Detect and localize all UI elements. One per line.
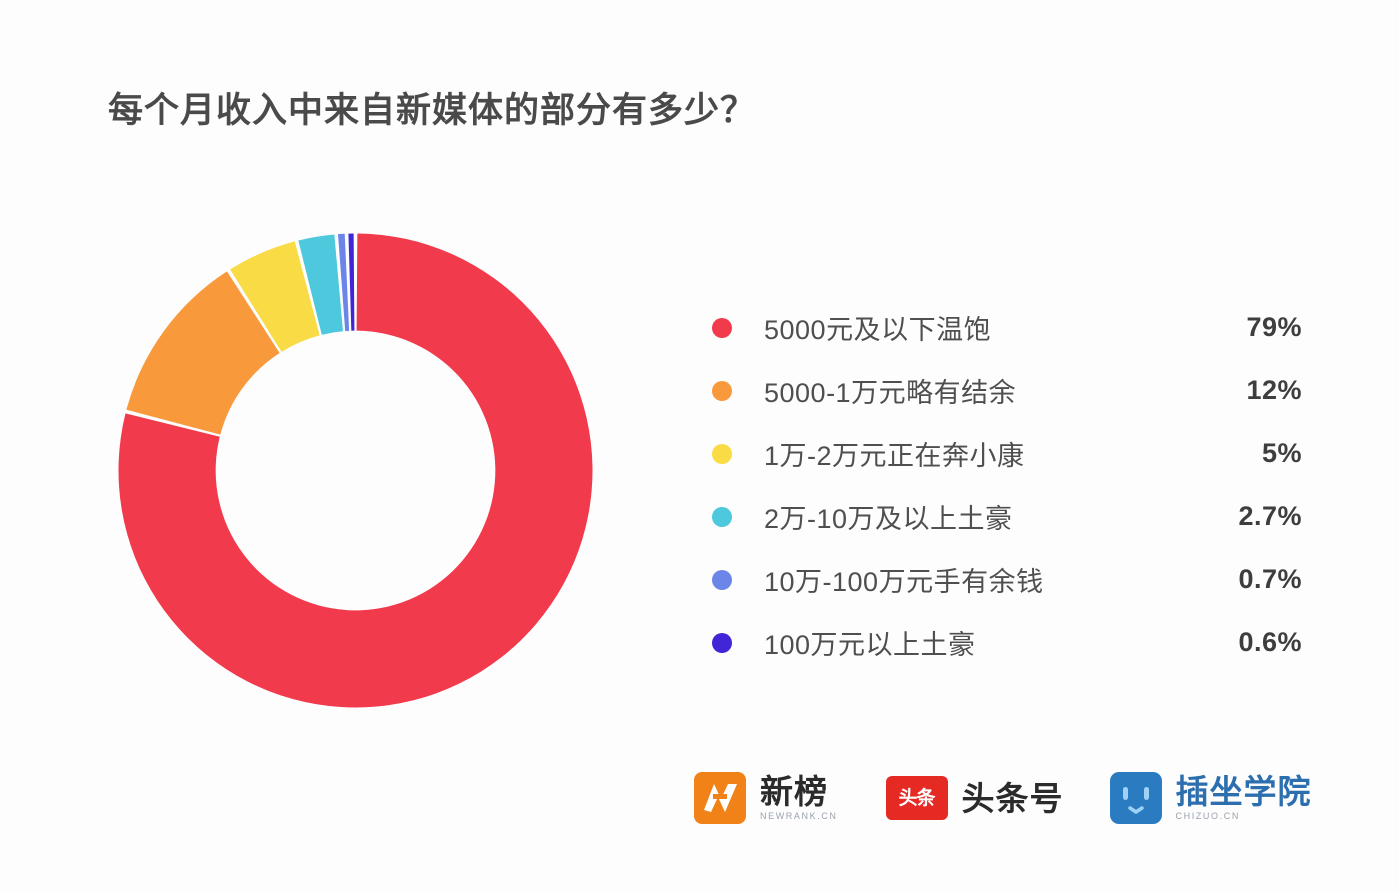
legend-value: 12% [1192, 375, 1302, 406]
legend-label: 2万-10万及以上土豪 [764, 497, 1192, 536]
toutiao-logo-text: 头条号 [962, 782, 1064, 815]
legend-dot-blue [712, 570, 732, 590]
legend-label: 1万-2万元正在奔小康 [764, 434, 1192, 473]
donut-slice[interactable] [348, 234, 354, 331]
toutiao-mark-text: 头条 [899, 789, 935, 808]
logo-name: 头条号 [962, 782, 1064, 815]
logo-name: 新榜 [760, 775, 838, 809]
legend-item[interactable]: 2万-10万及以上土豪 2.7% [712, 485, 1302, 548]
newrank-logo-icon [694, 772, 746, 824]
legend-value: 5% [1192, 438, 1302, 469]
legend-label: 100万元以上土豪 [764, 623, 1192, 662]
newrank-logo-text: 新榜 NEWRANK.CN [760, 775, 838, 822]
chart-page: 每个月收入中来自新媒体的部分有多少？ 5000元及以下温饱 79% 5000-1… [0, 0, 1399, 893]
legend-dot-cyan [712, 507, 732, 527]
legend-item[interactable]: 5000-1万元略有结余 12% [712, 359, 1302, 422]
logo-subtitle: NEWRANK.CN [760, 811, 838, 821]
legend-label: 5000元及以下温饱 [764, 308, 1192, 347]
donut-chart [117, 232, 594, 709]
chizuo-logo-text: 插坐学院 CHIZUO.CN [1176, 775, 1312, 822]
chart-legend: 5000元及以下温饱 79% 5000-1万元略有结余 12% 1万-2万元正在… [712, 296, 1302, 674]
legend-value: 0.7% [1192, 564, 1302, 595]
legend-item[interactable]: 5000元及以下温饱 79% [712, 296, 1302, 359]
logo-subtitle: CHIZUO.CN [1176, 811, 1312, 821]
logo-toutiao[interactable]: 头条 头条号 [886, 776, 1064, 820]
logo-chizuo[interactable]: 插坐学院 CHIZUO.CN [1110, 772, 1312, 824]
donut-slice-group [118, 234, 592, 708]
toutiao-logo-icon: 头条 [886, 776, 948, 820]
newrank-mark-glyph [694, 772, 746, 824]
legend-value: 79% [1192, 312, 1302, 343]
page-title: 每个月收入中来自新媒体的部分有多少？ [108, 82, 756, 133]
legend-dot-red [712, 318, 732, 338]
legend-dot-orange [712, 381, 732, 401]
legend-dot-yellow [712, 444, 732, 464]
chizuo-logo-icon [1110, 772, 1162, 824]
legend-label: 5000-1万元略有结余 [764, 371, 1192, 410]
legend-value: 0.6% [1192, 627, 1302, 658]
footer-logo-bar: 新榜 NEWRANK.CN 头条 头条号 插坐学院 [694, 772, 1312, 824]
legend-label: 10万-100万元手有余钱 [764, 560, 1192, 599]
legend-dot-indigo [712, 633, 732, 653]
legend-item[interactable]: 10万-100万元手有余钱 0.7% [712, 548, 1302, 611]
chizuo-mark-glyph [1110, 772, 1162, 824]
logo-name: 插坐学院 [1176, 775, 1312, 809]
legend-item[interactable]: 1万-2万元正在奔小康 5% [712, 422, 1302, 485]
logo-newrank[interactable]: 新榜 NEWRANK.CN [694, 772, 838, 824]
legend-item[interactable]: 100万元以上土豪 0.6% [712, 611, 1302, 674]
legend-value: 2.7% [1192, 501, 1302, 532]
donut-chart-svg [117, 232, 594, 709]
